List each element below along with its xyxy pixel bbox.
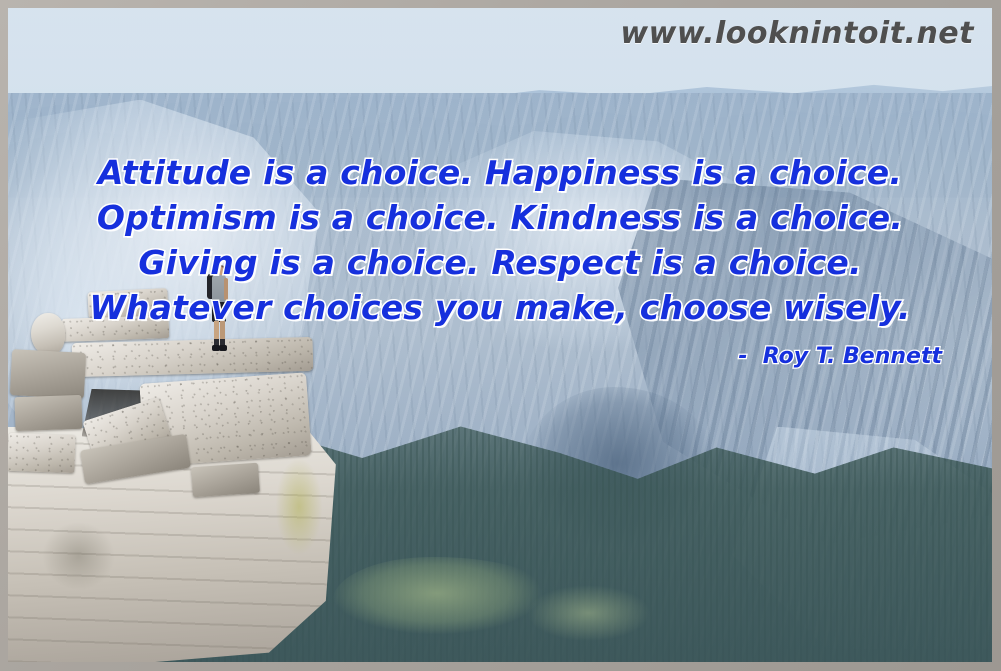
site-watermark: www.looknintoit.net bbox=[620, 16, 974, 51]
photograph: www.looknintoit.net Attitude is a choice… bbox=[8, 8, 992, 662]
rock-boulder bbox=[31, 313, 64, 355]
rock-slab bbox=[191, 462, 260, 497]
hiker-leg-right bbox=[220, 321, 225, 341]
lichen-patch bbox=[269, 450, 329, 564]
hiker-shorts bbox=[212, 302, 226, 322]
rock-slab bbox=[88, 288, 170, 319]
hiker-arm bbox=[224, 278, 228, 300]
hiker-leg-left bbox=[214, 321, 219, 341]
hiker-boot-right bbox=[219, 345, 227, 351]
rock-slab bbox=[10, 349, 86, 398]
rock-slab bbox=[14, 395, 82, 431]
rock-slab-long bbox=[71, 336, 313, 376]
rock-slab bbox=[61, 315, 169, 341]
photo-frame: www.looknintoit.net Attitude is a choice… bbox=[0, 0, 1001, 671]
hiker-figure bbox=[206, 266, 232, 362]
foreground-cliff bbox=[8, 283, 343, 662]
rock-stain-patch bbox=[35, 518, 122, 594]
rock-slab bbox=[8, 433, 76, 473]
